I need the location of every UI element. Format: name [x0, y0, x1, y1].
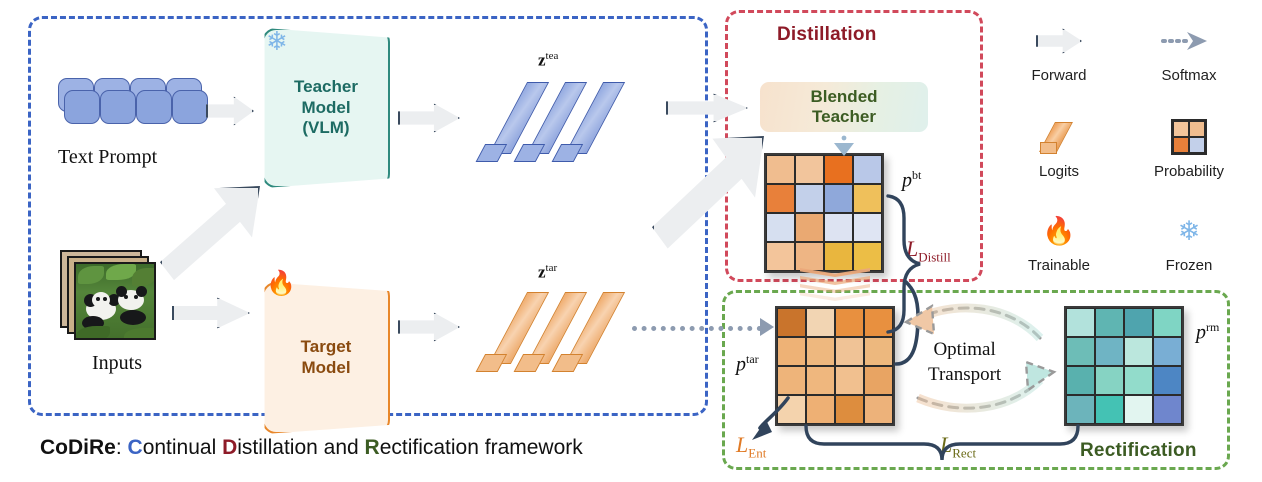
- legend-item-softmax: Softmax: [1125, 18, 1253, 84]
- loss-ent-symbol: L: [736, 432, 748, 457]
- prm-label: prm: [1196, 320, 1219, 345]
- softmax-dotted-arrow-icon: [1125, 18, 1253, 64]
- matrix-cell: [864, 366, 893, 395]
- teacher-logits-superscript: tea: [546, 50, 559, 62]
- caption-and: and: [318, 436, 365, 459]
- teacher-model-line2: Model: [301, 98, 350, 117]
- snowflake-icon: ❄: [1178, 216, 1201, 247]
- matrix-cell: [824, 155, 853, 184]
- matrix-cell: [1066, 308, 1095, 337]
- legend-item-probability: Probability: [1125, 114, 1253, 180]
- probability-matrix-pbt: [764, 153, 884, 273]
- matrix-cell: [824, 213, 853, 242]
- ptar-symbol: p: [736, 354, 746, 376]
- matrix-cell: [864, 395, 893, 424]
- matrix-cell: [1095, 308, 1124, 337]
- matrix-cell: [766, 213, 795, 242]
- matrix-cell: [777, 308, 806, 337]
- target-logits-symbol: z: [538, 263, 546, 282]
- loss-distill-label: LDistill: [906, 236, 951, 265]
- matrix-cell: [806, 366, 835, 395]
- matrix-cell: [1095, 337, 1124, 366]
- matrix-cell: [853, 242, 882, 271]
- matrix-cell: [853, 213, 882, 242]
- matrix-cell: [766, 155, 795, 184]
- loss-rect-symbol: L: [940, 432, 952, 457]
- legend: Forward Softmax Logits Probability 🔥 Tra…: [995, 18, 1253, 280]
- matrix-cell: [835, 308, 864, 337]
- legend-item-logits: Logits: [995, 114, 1123, 180]
- target-model-line1: Target: [301, 337, 352, 356]
- matrix-cell: [795, 184, 824, 213]
- text-prompt-token-stack: [56, 78, 216, 140]
- softmax-dotted-line: [632, 326, 762, 331]
- matrix-cell: [1153, 308, 1182, 337]
- matrix-cell: [777, 395, 806, 424]
- teacher-model-line3: (VLM): [302, 118, 349, 137]
- pbt-symbol: p: [902, 170, 912, 192]
- matrix-cell: [835, 395, 864, 424]
- matrix-cell: [1124, 337, 1153, 366]
- matrix-cell: [1153, 395, 1182, 424]
- target-logits-label: ztar: [538, 262, 557, 283]
- inputs-image-stack: [60, 250, 156, 342]
- caption-colon: :: [116, 436, 128, 459]
- matrix-cell: [1124, 395, 1153, 424]
- loss-ent-label: LEnt: [736, 432, 766, 461]
- matrix-cell: [777, 366, 806, 395]
- caption-w1-tail: ontinual: [143, 436, 217, 459]
- pbt-superscript: bt: [912, 168, 921, 182]
- matrix-cell: [806, 337, 835, 366]
- snowflake-icon: ❄: [266, 28, 288, 54]
- prm-superscript: rm: [1206, 320, 1219, 334]
- loss-distill-subscript: Distill: [918, 249, 951, 264]
- logits-bar-icon: [1039, 120, 1079, 154]
- matrix-cell: [1066, 366, 1095, 395]
- matrix-cell: [1124, 308, 1153, 337]
- legend-item-forward: Forward: [995, 18, 1123, 84]
- matrix-cell: [835, 337, 864, 366]
- softmax-arrowhead: [760, 318, 774, 336]
- legend-label-probability: Probability: [1125, 163, 1253, 180]
- prm-symbol: p: [1196, 322, 1206, 344]
- matrix-cell: [795, 213, 824, 242]
- legend-label-frozen: Frozen: [1125, 257, 1253, 274]
- matrix-cell: [795, 242, 824, 271]
- legend-label-softmax: Softmax: [1125, 67, 1253, 84]
- matrix-cell: [835, 366, 864, 395]
- teacher-logits-symbol: z: [538, 51, 546, 70]
- legend-label-logits: Logits: [995, 163, 1123, 180]
- inputs-label: Inputs: [92, 352, 142, 375]
- rectification-title: Rectification: [1080, 440, 1197, 462]
- blended-teacher-box[interactable]: Blended Teacher: [760, 82, 928, 132]
- figure-caption: CoDiRe: Continual Distillation and Recti…: [40, 436, 583, 460]
- ot-line2: Transport: [928, 364, 1001, 385]
- matrix-cell: [806, 308, 835, 337]
- matrix-cell: [766, 184, 795, 213]
- matrix-cell: [864, 337, 893, 366]
- optimal-transport-label: Optimal Transport: [928, 338, 1001, 387]
- target-model-line2: Model: [301, 358, 350, 377]
- teacher-logits-label: ztea: [538, 50, 558, 71]
- loss-distill-symbol: L: [906, 236, 918, 261]
- chevron-flow-stack: [800, 268, 870, 302]
- pbt-label: pbt: [902, 168, 921, 193]
- target-model-block[interactable]: Target Model: [262, 282, 390, 434]
- legend-label-trainable: Trainable: [995, 257, 1123, 274]
- matrix-cell: [864, 308, 893, 337]
- matrix-cell: [853, 155, 882, 184]
- loss-rect-label: LRect: [940, 432, 976, 461]
- ot-line1: Optimal: [933, 339, 995, 360]
- target-logits-superscript: tar: [546, 262, 558, 274]
- loss-ent-subscript: Ent: [748, 445, 766, 460]
- matrix-cell: [824, 184, 853, 213]
- ptar-superscript: tar: [746, 352, 759, 366]
- matrix-cell: [766, 242, 795, 271]
- caption-w3-head: R: [365, 436, 380, 459]
- fire-icon: 🔥: [266, 272, 296, 296]
- probability-matrix-prm: [1064, 306, 1184, 426]
- forward-arrow-icon: [1036, 28, 1082, 54]
- matrix-cell: [853, 184, 882, 213]
- blended-teacher-line2: Teacher: [812, 107, 876, 126]
- matrix-cell: [806, 395, 835, 424]
- matrix-cell: [1095, 395, 1124, 424]
- target-logits-group: [490, 288, 640, 378]
- matrix-cell: [1153, 337, 1182, 366]
- caption-w3-tail: ectification: [380, 436, 479, 459]
- matrix-cell: [1153, 366, 1182, 395]
- probability-grid-icon: [1171, 119, 1207, 155]
- blended-teacher-line1: Blended: [810, 87, 877, 106]
- matrix-cell: [824, 242, 853, 271]
- teacher-logits-group: [490, 78, 640, 168]
- ptar-label: ptar: [736, 352, 759, 377]
- legend-item-frozen: ❄ Frozen: [1125, 208, 1253, 274]
- fire-icon: 🔥: [1042, 215, 1076, 247]
- legend-label-forward: Forward: [995, 67, 1123, 84]
- text-prompt-label: Text Prompt: [58, 146, 157, 169]
- caption-w2-head: D: [222, 436, 237, 459]
- caption-w2-tail: istillation: [237, 436, 318, 459]
- matrix-cell: [1066, 337, 1095, 366]
- matrix-cell: [1095, 366, 1124, 395]
- caption-acronym: CoDiRe: [40, 436, 116, 459]
- legend-item-trainable: 🔥 Trainable: [995, 208, 1123, 274]
- teacher-model-line1: Teacher: [294, 77, 358, 96]
- matrix-cell: [777, 337, 806, 366]
- matrix-cell: [1124, 366, 1153, 395]
- matrix-cell: [795, 155, 824, 184]
- loss-rect-subscript: Rect: [952, 445, 976, 460]
- caption-tail: framework: [479, 436, 583, 459]
- distillation-title: Distillation: [777, 24, 877, 46]
- caption-w1-head: C: [128, 436, 143, 459]
- probability-matrix-ptar: [775, 306, 895, 426]
- matrix-cell: [1066, 395, 1095, 424]
